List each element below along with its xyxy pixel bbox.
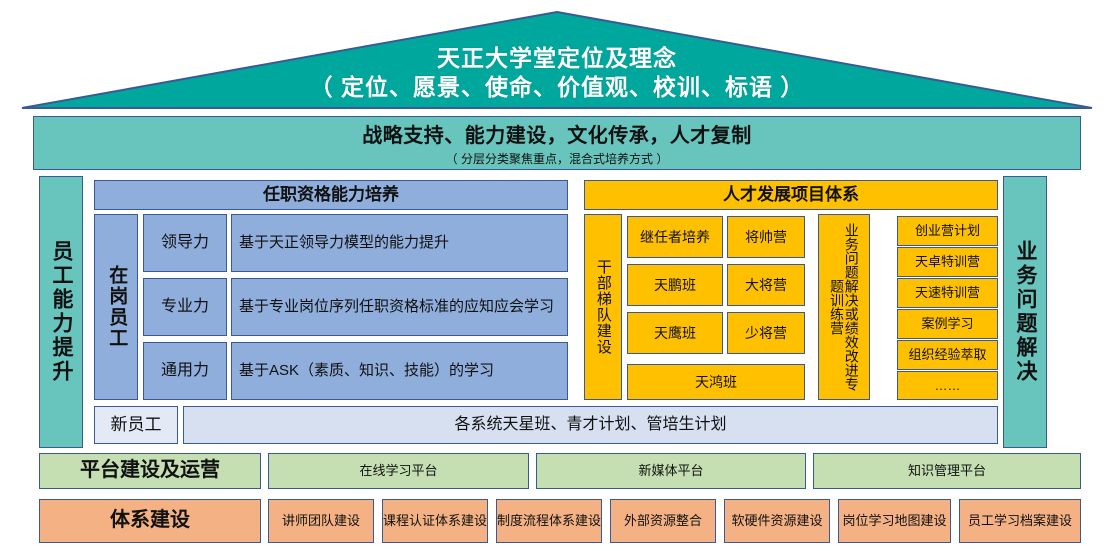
talent-item-jiangshuai[interactable]: 将帅营 — [727, 216, 805, 258]
competency-desc-leadership: 基于天正领导力模型的能力提升 — [231, 214, 568, 272]
talent-item-tianzhuo[interactable]: 天卓特训营 — [897, 247, 998, 277]
pillar-employee-capability: 员工能力提升 — [39, 176, 83, 448]
talent-item-experience-extraction[interactable]: 组织经验萃取 — [897, 340, 998, 370]
competency-vertical-label: 在岗员工 — [94, 214, 138, 400]
platform-item-online-learning[interactable]: 在线学习平台 — [268, 453, 529, 489]
talent-item-ellipsis: …… — [897, 371, 998, 400]
platform-item-new-media[interactable]: 新媒体平台 — [536, 453, 806, 489]
pillar-business-problem-solving: 业务问题解决 — [1003, 176, 1047, 448]
talent-item-tianying[interactable]: 天鹰班 — [627, 312, 723, 354]
system-main-label: 体系建设 — [39, 499, 261, 543]
roof-title-line2: （ 定位、愿景、使命、价值观、校训、标语 ） — [310, 73, 805, 102]
banner-line2: （ 分层分类聚焦重点，混合式培养方式 ） — [446, 150, 669, 167]
talent-header: 人才发展项目体系 — [584, 180, 998, 210]
system-item-job-learning-map[interactable]: 岗位学习地图建设 — [838, 499, 951, 543]
new-employee-desc: 各系统天星班、青才计划、管培生计划 — [183, 406, 998, 444]
talent-item-successor[interactable]: 继任者培养 — [627, 216, 723, 258]
talent-item-tianpeng[interactable]: 天鹏班 — [627, 264, 723, 306]
talent-item-startup-camp[interactable]: 创业营计划 — [897, 216, 998, 246]
competency-tag-professional[interactable]: 专业力 — [143, 278, 227, 336]
banner-line1: 战略支持、能力建设，文化传承，人才复制 — [362, 119, 752, 148]
system-item-process-system[interactable]: 制度流程体系建设 — [496, 499, 602, 543]
strategy-banner: 战略支持、能力建设，文化传承，人才复制 （ 分层分类聚焦重点，混合式培养方式 ） — [33, 116, 1081, 170]
platform-item-knowledge-management[interactable]: 知识管理平台 — [813, 453, 1081, 489]
talent-item-dajiang[interactable]: 大将营 — [727, 264, 805, 306]
system-item-employee-learning-file[interactable]: 员工学习档案建设 — [959, 499, 1081, 543]
new-employee-tag[interactable]: 新员工 — [94, 406, 178, 444]
talent-item-shaojiang[interactable]: 少将营 — [727, 312, 805, 354]
competency-desc-professional: 基于专业岗位序列任职资格标准的应知应会学习 — [231, 278, 568, 336]
talent-item-case-study[interactable]: 案例学习 — [897, 309, 998, 339]
system-item-course-certification[interactable]: 课程认证体系建设 — [382, 499, 488, 543]
roof-title: 天正大学堂定位及理念 （ 定位、愿景、使命、价值观、校训、标语 ） — [0, 38, 1114, 108]
talent-mid-vertical-label: 业务问题解决或绩效改进专题训练营 — [818, 214, 870, 400]
competency-tag-general[interactable]: 通用力 — [143, 342, 227, 400]
roof-title-line1: 天正大学堂定位及理念 — [437, 44, 677, 73]
competency-header: 任职资格能力培养 — [94, 180, 568, 210]
competency-tag-leadership[interactable]: 领导力 — [143, 214, 227, 272]
talent-vertical-label: 干部梯队建设 — [584, 214, 622, 400]
talent-item-tianhong[interactable]: 天鸿班 — [627, 364, 805, 400]
system-item-trainer-team[interactable]: 讲师团队建设 — [268, 499, 374, 543]
system-item-hardware-software[interactable]: 软硬件资源建设 — [724, 499, 830, 543]
competency-desc-general: 基于ASK（素质、知识、技能）的学习 — [231, 342, 568, 400]
system-item-external-resources[interactable]: 外部资源整合 — [610, 499, 716, 543]
platform-main-label: 平台建设及运营 — [39, 453, 261, 489]
talent-item-tiansu[interactable]: 天速特训营 — [897, 278, 998, 308]
